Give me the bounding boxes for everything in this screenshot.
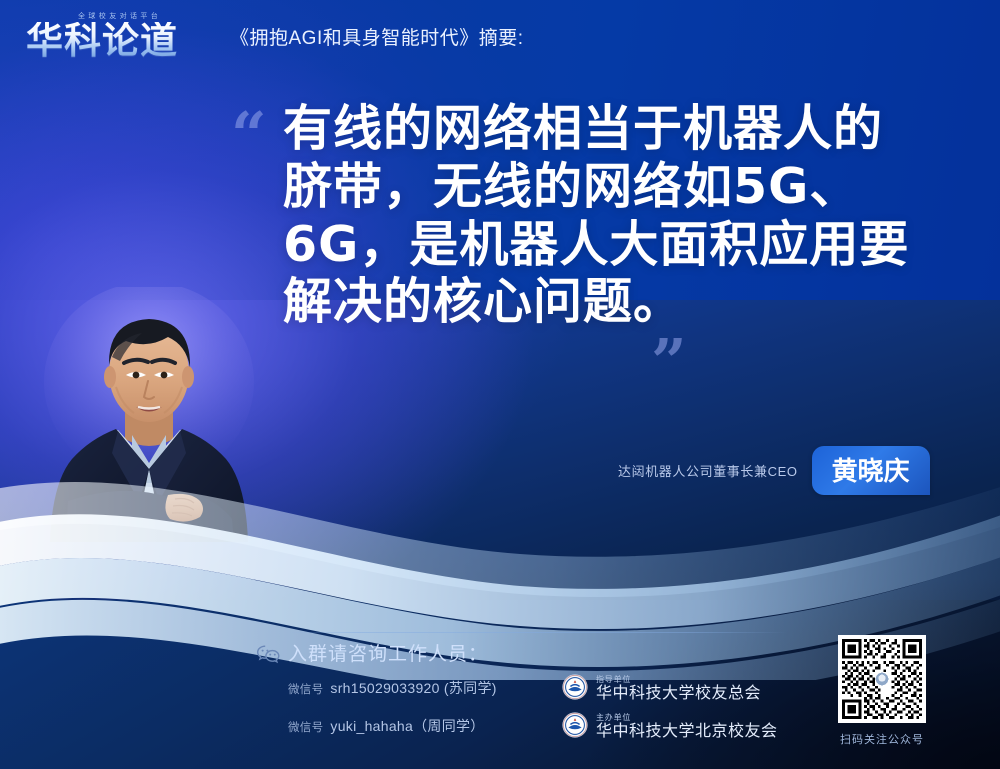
contact-label: 微信号 — [288, 684, 323, 696]
qr-code[interactable] — [838, 635, 926, 723]
footer-divider — [288, 632, 788, 633]
organization-kind: 指导单位 — [596, 676, 761, 684]
organization-kind: 主办单位 — [596, 714, 778, 722]
attribution: 达闼机器人公司董事长兼CEO 黄晓庆 — [618, 446, 930, 495]
organization-name: 华中科技大学校友总会 — [596, 686, 761, 703]
quote-line: 6G，是机器人大面积应用要 — [283, 216, 943, 274]
organization-row: 指导单位 华中科技大学校友总会 — [562, 674, 761, 705]
organization-text: 指导单位 华中科技大学校友总会 — [596, 676, 761, 702]
university-seal-icon — [562, 674, 588, 705]
quote-text: 有线的网络相当于机器人的 脐带，无线的网络如5G、 6G，是机器人大面积应用要 … — [283, 100, 943, 331]
quote-open-mark: “ — [231, 104, 267, 166]
brand-logo[interactable]: 全球校友对话平台 华科论道 — [26, 12, 216, 59]
quote-line: 脐带，无线的网络如5G、 — [283, 158, 943, 216]
quote-close-mark: ” — [651, 331, 687, 393]
speaker-portrait — [42, 287, 257, 542]
poster-canvas: 全球校友对话平台 华科论道 《拥抱AGI和具身智能时代》摘要: “ 有线的网络相… — [0, 0, 1000, 769]
quote-line: 解决的核心问题。 — [283, 273, 943, 331]
logo-wordmark: 华科论道 — [26, 22, 216, 59]
quote-line: 有线的网络相当于机器人的 — [283, 100, 943, 158]
contact-row: 微信号srh15029033920 (苏同学) — [288, 678, 497, 698]
qr-caption: 扫码关注公众号 — [838, 731, 926, 747]
organization-text: 主办单位 华中科技大学北京校友会 — [596, 714, 778, 740]
header: 全球校友对话平台 华科论道 《拥抱AGI和具身智能时代》摘要: — [26, 12, 524, 59]
wechat-icon — [256, 644, 282, 669]
page-title: 《拥抱AGI和具身智能时代》摘要: — [230, 23, 524, 59]
organization-row: 主办单位 华中科技大学北京校友会 — [562, 712, 778, 743]
contact-value: srh15029033920 (苏同学) — [330, 680, 496, 696]
organization-name: 华中科技大学北京校友会 — [596, 724, 778, 741]
contact-row: 微信号yuki_hahaha（周同学） — [288, 716, 485, 736]
speaker-role: 达闼机器人公司董事长兼CEO — [618, 461, 798, 480]
footer-heading: 入群请咨询工作人员： — [288, 639, 488, 666]
speaker-name-badge: 黄晓庆 — [812, 446, 930, 495]
logo-tagline: 全球校友对话平台 — [78, 11, 161, 21]
contact-value: yuki_hahaha（周同学） — [330, 718, 484, 734]
contact-label: 微信号 — [288, 722, 323, 734]
university-seal-icon — [562, 712, 588, 743]
qr-section: 扫码关注公众号 — [838, 635, 926, 747]
